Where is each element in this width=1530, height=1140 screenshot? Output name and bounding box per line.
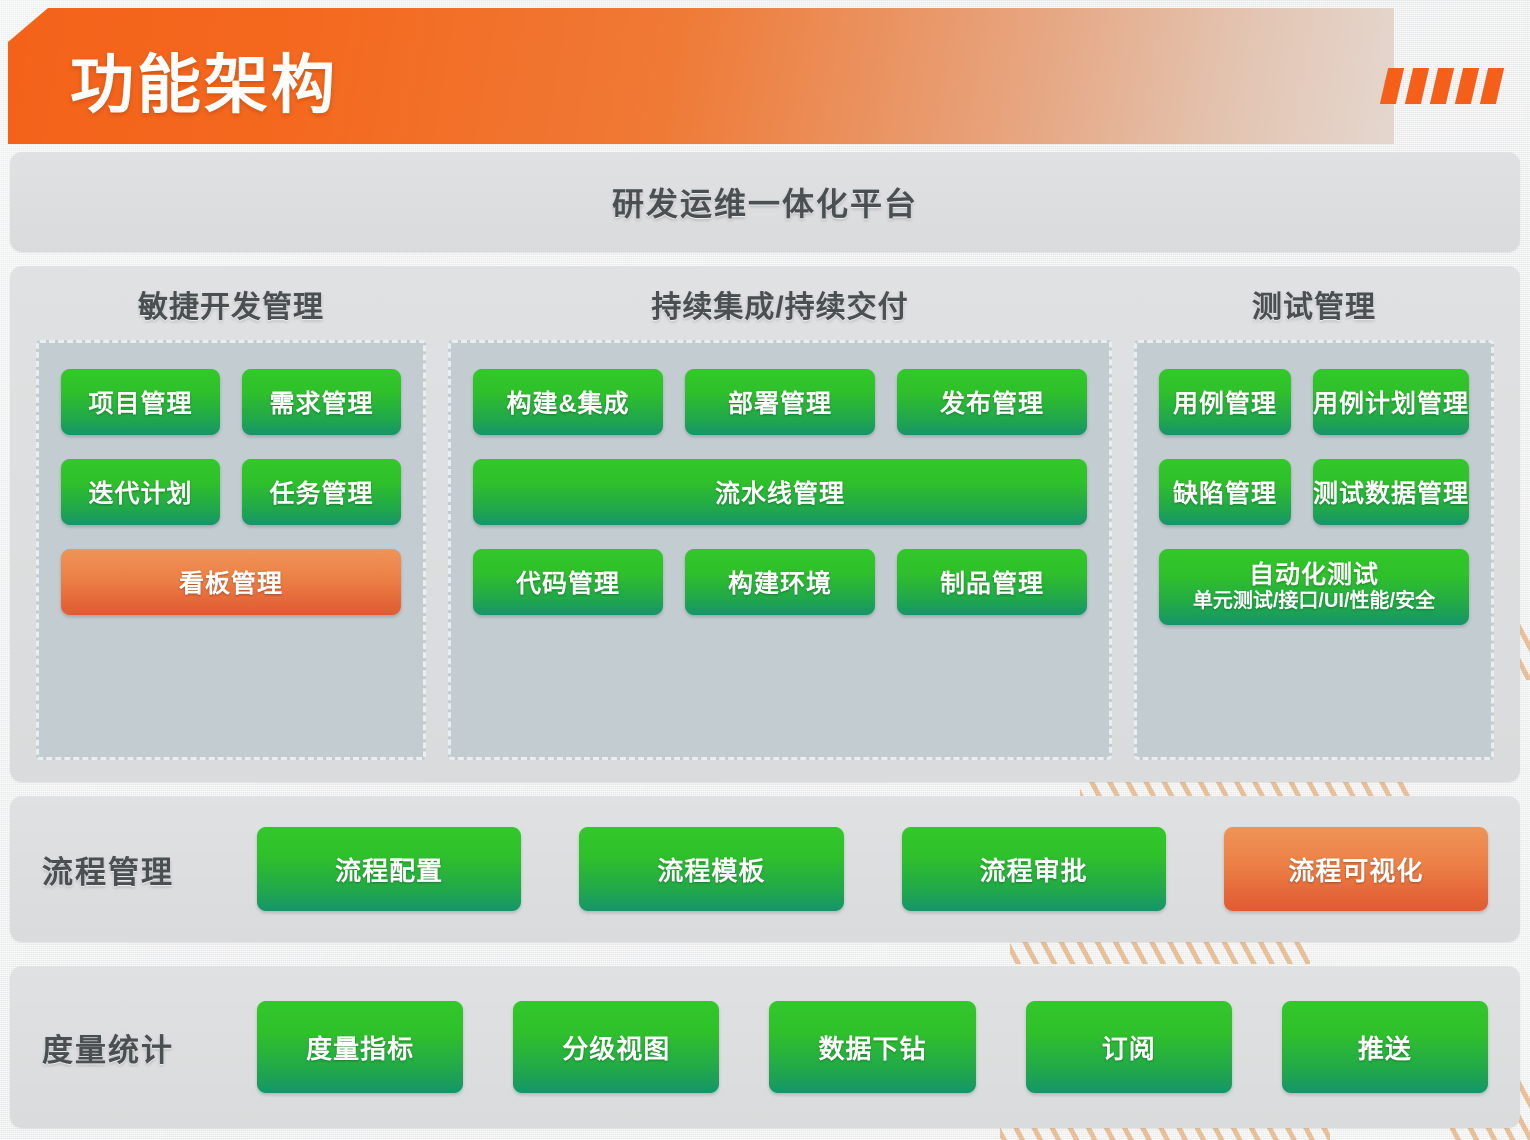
feature-button[interactable]: 自动化测试单元测试/接口/UI/性能/安全 [1159,549,1469,625]
column-heading: 测试管理 [1134,282,1494,326]
button-row: 构建&集成部署管理发布管理 [473,369,1087,435]
feature-button-label: 数据下钻 [819,1029,927,1066]
button-row: 迭代计划任务管理 [61,459,401,525]
metrics-statistics-strip: 度量统计 度量指标分级视图数据下钻订阅推送 [10,966,1520,1128]
feature-button-label: 推送 [1358,1029,1412,1066]
feature-button[interactable]: 构建环境 [685,549,875,615]
feature-button[interactable]: 需求管理 [242,369,401,435]
feature-button-label: 用例管理 [1173,384,1277,420]
strip-button[interactable]: 数据下钻 [769,1001,975,1093]
strip-button[interactable]: 分级视图 [513,1001,719,1093]
button-row: 看板管理 [61,549,401,615]
feature-button[interactable]: 用例管理 [1159,369,1291,435]
architecture-poster: 功能架构 研发运维一体化平台 敏捷开发管理项目管理需求管理迭代计划任务管理看板管… [0,0,1530,1140]
feature-button[interactable]: 用例计划管理 [1313,369,1469,435]
feature-button-label: 看板管理 [179,564,283,600]
feature-button-label: 任务管理 [269,474,373,510]
feature-button[interactable]: 任务管理 [242,459,401,525]
button-row: 自动化测试单元测试/接口/UI/性能/安全 [1159,549,1469,625]
feature-button[interactable]: 项目管理 [61,369,220,435]
strip-button[interactable]: 流程可视化 [1224,827,1488,911]
capability-section: 敏捷开发管理项目管理需求管理迭代计划任务管理看板管理持续集成/持续交付构建&集成… [10,266,1520,782]
strip-items: 流程配置流程模板流程审批流程可视化 [257,827,1488,911]
feature-button-label: 流程配置 [335,851,443,888]
feature-button-label: 缺陷管理 [1173,474,1277,510]
capability-panel: 项目管理需求管理迭代计划任务管理看板管理 [36,340,426,760]
feature-button[interactable]: 迭代计划 [61,459,220,525]
strip-items: 度量指标分级视图数据下钻订阅推送 [257,1001,1488,1093]
capability-column: 测试管理用例管理用例计划管理缺陷管理测试数据管理自动化测试单元测试/接口/UI/… [1134,282,1494,760]
feature-button[interactable]: 看板管理 [61,549,401,615]
feature-button[interactable]: 流水线管理 [473,459,1087,525]
column-heading: 持续集成/持续交付 [448,282,1112,326]
strip-button[interactable]: 流程审批 [902,827,1166,911]
feature-button-label: 部署管理 [728,384,832,420]
feature-button-label: 构建&集成 [506,384,629,420]
feature-button-label: 迭代计划 [88,474,192,510]
feature-button[interactable]: 测试数据管理 [1313,459,1469,525]
capability-column: 持续集成/持续交付构建&集成部署管理发布管理流水线管理代码管理构建环境制品管理 [448,282,1112,760]
platform-bar: 研发运维一体化平台 [10,152,1520,252]
button-row: 流水线管理 [473,459,1087,525]
button-row: 项目管理需求管理 [61,369,401,435]
capability-panel: 构建&集成部署管理发布管理流水线管理代码管理构建环境制品管理 [448,340,1112,760]
strip-button[interactable]: 度量指标 [257,1001,463,1093]
capability-panel: 用例管理用例计划管理缺陷管理测试数据管理自动化测试单元测试/接口/UI/性能/安… [1134,340,1494,760]
strip-label: 流程管理 [42,847,257,892]
feature-button-label: 构建环境 [728,564,832,600]
button-row: 缺陷管理测试数据管理 [1159,459,1469,525]
feature-button-label: 项目管理 [88,384,192,420]
feature-button-label: 自动化测试 [1249,561,1379,589]
slanted-bars-icon [1384,68,1500,104]
feature-button[interactable]: 缺陷管理 [1159,459,1291,525]
column-heading: 敏捷开发管理 [36,282,426,326]
header-banner: 功能架构 [8,8,1394,144]
process-management-strip: 流程管理 流程配置流程模板流程审批流程可视化 [10,796,1520,942]
button-row: 用例管理用例计划管理 [1159,369,1469,435]
platform-title: 研发运维一体化平台 [612,179,918,225]
feature-button-label: 制品管理 [940,564,1044,600]
feature-button-label: 流程可视化 [1288,851,1423,888]
feature-button[interactable]: 制品管理 [897,549,1087,615]
feature-button-label: 订阅 [1102,1029,1156,1066]
strip-label: 度量统计 [42,1025,257,1070]
feature-button-label: 用例计划管理 [1313,384,1469,420]
feature-button-label: 代码管理 [516,564,620,600]
page-title: 功能架构 [70,34,338,126]
capability-columns: 敏捷开发管理项目管理需求管理迭代计划任务管理看板管理持续集成/持续交付构建&集成… [10,266,1520,782]
feature-button-label: 测试数据管理 [1313,474,1469,510]
strip-button[interactable]: 订阅 [1026,1001,1232,1093]
feature-button-label: 发布管理 [940,384,1044,420]
feature-button-label: 需求管理 [269,384,373,420]
strip-button[interactable]: 推送 [1282,1001,1488,1093]
feature-button[interactable]: 发布管理 [897,369,1087,435]
capability-column: 敏捷开发管理项目管理需求管理迭代计划任务管理看板管理 [36,282,426,760]
feature-button-sublabel: 单元测试/接口/UI/性能/安全 [1193,590,1435,612]
button-row: 代码管理构建环境制品管理 [473,549,1087,615]
feature-button[interactable]: 代码管理 [473,549,663,615]
feature-button-label: 流程模板 [657,851,765,888]
strip-button[interactable]: 流程模板 [579,827,843,911]
feature-button-label: 流水线管理 [715,474,845,510]
feature-button-label: 流程审批 [980,851,1088,888]
feature-button[interactable]: 部署管理 [685,369,875,435]
feature-button-label: 分级视图 [562,1029,670,1066]
feature-button-label: 度量指标 [306,1029,414,1066]
strip-button[interactable]: 流程配置 [257,827,521,911]
feature-button[interactable]: 构建&集成 [473,369,663,435]
